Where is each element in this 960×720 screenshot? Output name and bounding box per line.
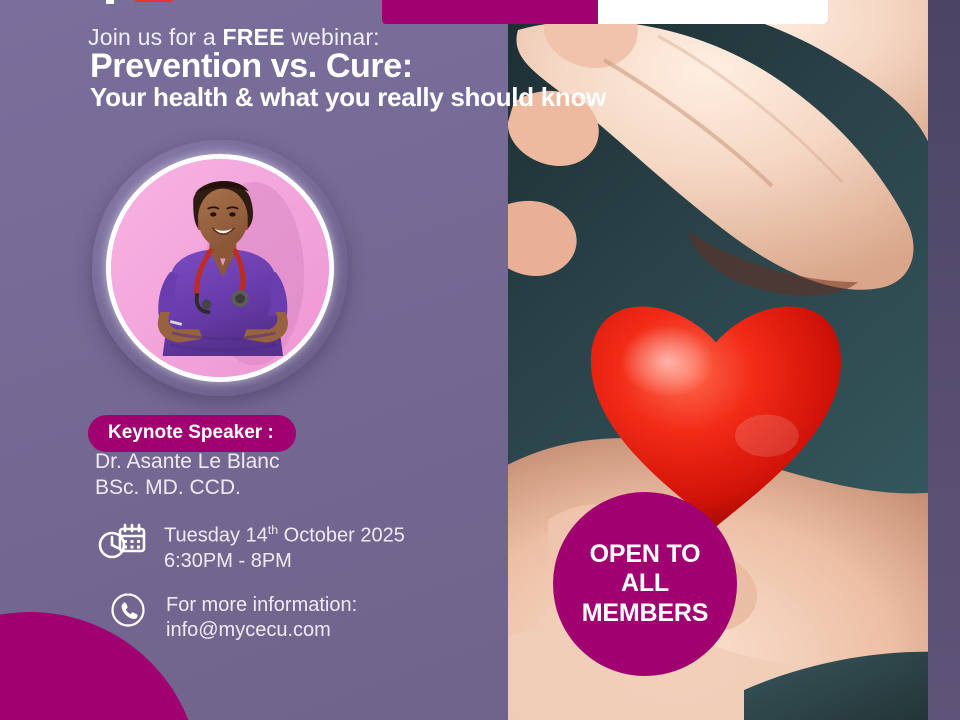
page-title: Prevention vs. Cure: [90,47,413,86]
members-badge-line1: OPEN TO [590,540,701,569]
date-time-row: Tuesday 14th October 20256:30PM - 8PM [98,521,405,574]
webinar-flyer: Join us for a FREE webinar: Prevention v… [0,0,960,720]
open-to-all-members-badge: OPEN TO ALL MEMBERS [553,492,737,676]
top-white-panel [598,0,828,24]
date-time-text: Tuesday 14th October 20256:30PM - 8PM [164,523,405,574]
members-badge-line3: MEMBERS [582,599,708,628]
event-date-rest: October 2025 [278,525,405,547]
clock-calendar-icon [98,521,146,566]
right-purple-strip [928,0,960,720]
contact-text: For more information:info@mycecu.com [166,593,357,643]
event-date-day: Tuesday 14 [164,525,268,547]
speaker-full-name: Dr. Asante Le Blanc [95,450,279,473]
event-date-ordinal: th [268,523,278,537]
contact-email[interactable]: info@mycecu.com [166,619,331,641]
members-badge-line2: ALL [621,569,669,598]
brand-logo-icon [92,0,182,10]
contact-label: For more information: [166,594,357,616]
phone-icon [110,592,146,633]
status-badge: Keynote Speaker : [88,415,296,452]
event-time: 6:30PM - 8PM [164,550,292,572]
avatar [92,140,348,396]
page-subtitle: Your health & what you really should kno… [90,82,606,113]
speaker-credentials: BSc. MD. CCD. [95,476,241,499]
doctor-portrait [106,154,334,382]
top-magenta-bar [382,0,632,24]
speaker-name: Dr. Asante Le BlancBSc. MD. CCD. [95,449,279,501]
contact-row: For more information:info@mycecu.com [110,592,357,643]
